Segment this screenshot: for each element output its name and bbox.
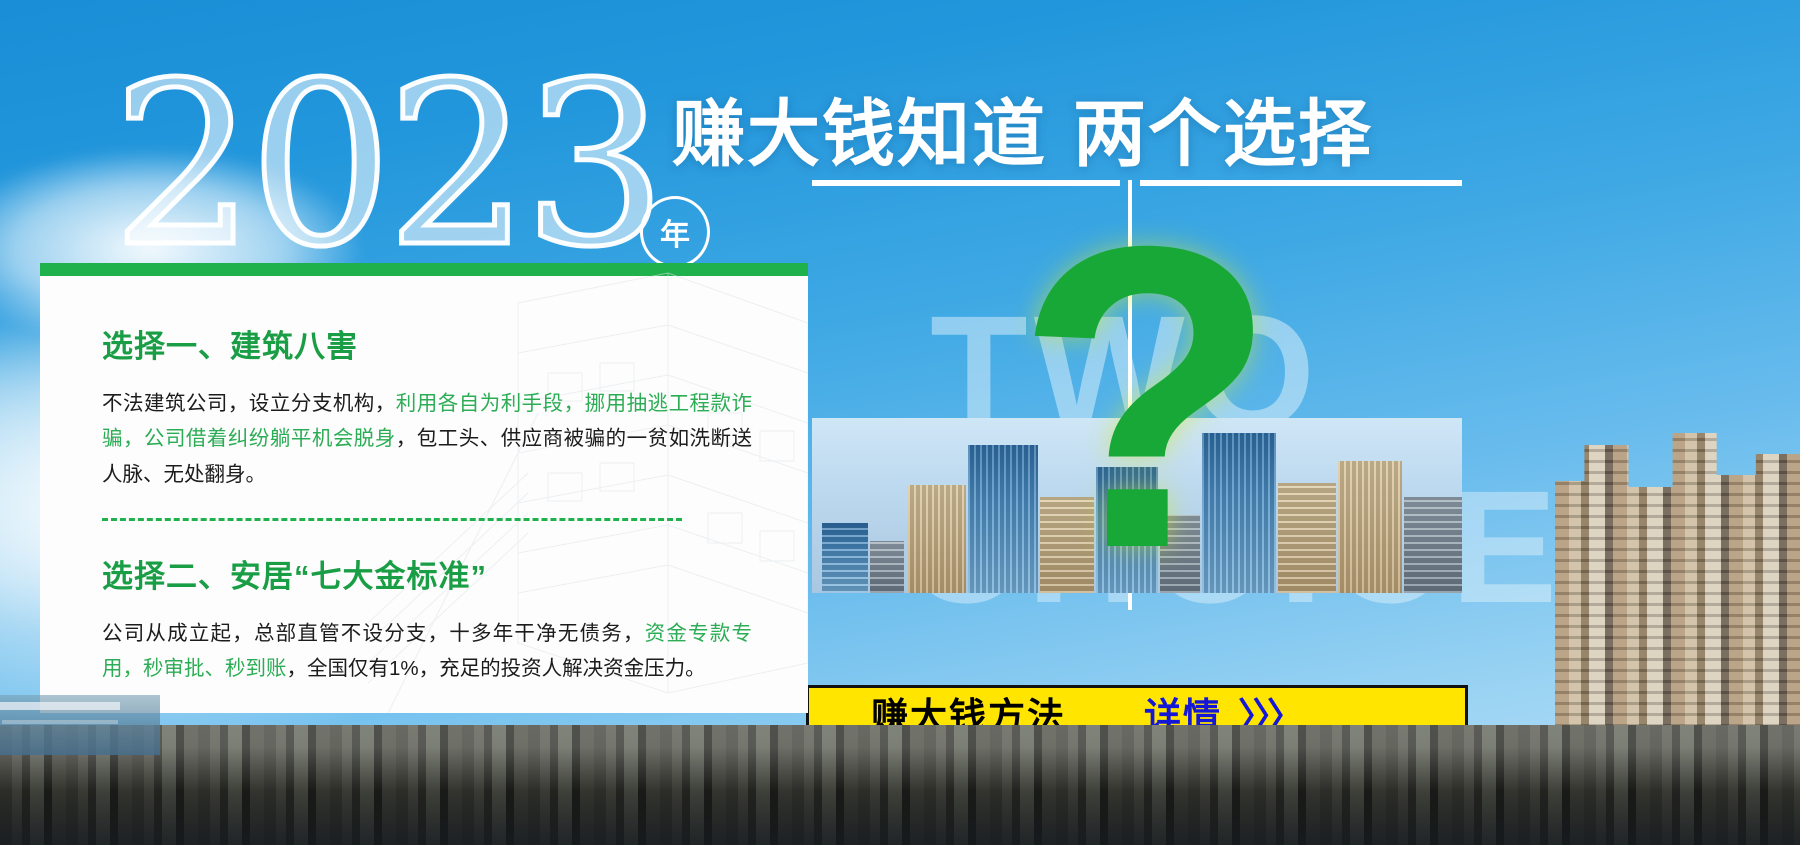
building — [1404, 497, 1462, 593]
run-black: 不法建筑公司，设立分支机构， — [102, 392, 396, 415]
building — [1278, 483, 1336, 593]
run-black: ，全国仅有1%，充足的投资人解决资金压力。 — [287, 657, 706, 680]
building — [822, 523, 868, 593]
section-paragraph-1: 不法建筑公司，设立分支机构，利用各自为利手段，挪用抽逃工程款诈骗，公司借着纠纷躺… — [102, 386, 752, 492]
card-body: 选择一、建筑八害 不法建筑公司，设立分支机构，利用各自为利手段，挪用抽逃工程款诈… — [40, 263, 808, 686]
building — [1338, 461, 1402, 593]
headline-part-1: 赚大钱知道 — [672, 94, 1047, 175]
right-residential-towers — [1555, 427, 1800, 727]
year-2023-outline: 2023 — [112, 54, 661, 279]
building — [870, 541, 904, 593]
question-mark-icon: ? — [1015, 205, 1278, 592]
section-title-2: 选择二、安居“七大金标准” — [102, 551, 752, 596]
building — [908, 485, 966, 593]
section-title-1: 选择一、建筑八害 — [102, 321, 752, 366]
run-black: 公司从成立起，总部直管不设分支，十多年干净无债务， — [102, 622, 645, 645]
section-paragraph-2: 公司从成立起，总部直管不设分支，十多年干净无债务，资金专款专用，秒审批、秒到账，… — [102, 616, 752, 687]
dashed-divider — [102, 518, 682, 521]
year-suffix-badge: 年 — [640, 196, 710, 268]
content-card: 选择一、建筑八害 不法建筑公司，设立分支机构，利用各自为利手段，挪用抽逃工程款诈… — [40, 263, 808, 713]
bottom-city-strip — [0, 725, 1800, 845]
promo-banner: 2023 2023 年 赚大钱知道两个选择 TWO CHOICES ? 赚大钱方… — [0, 0, 1800, 845]
bridge — [0, 702, 120, 710]
